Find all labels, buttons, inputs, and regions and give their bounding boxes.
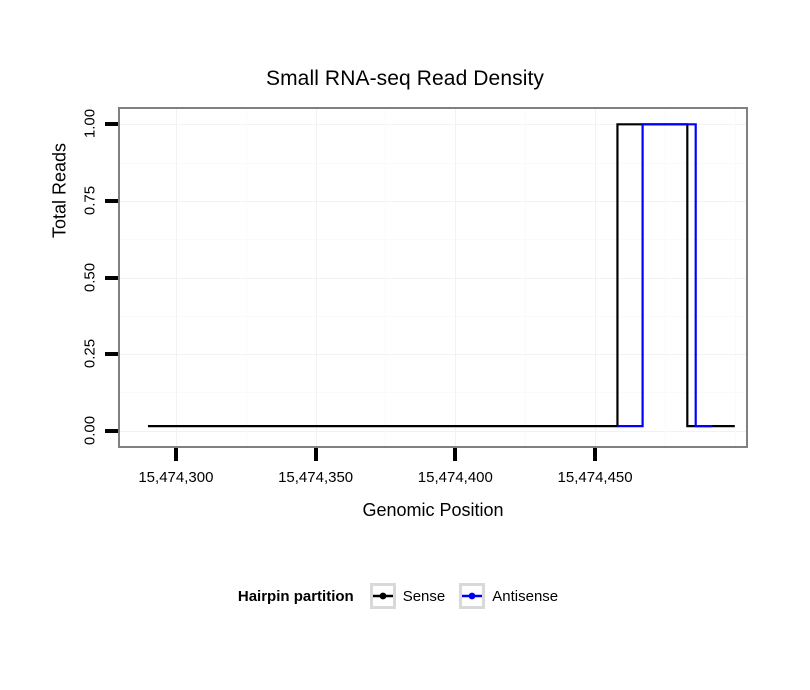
x-tick-label: 15,474,350 [256, 469, 376, 486]
legend-item-antisense[interactable]: Antisense [459, 583, 558, 609]
y-tick-mark [105, 429, 118, 433]
x-tick-label: 15,474,300 [116, 469, 236, 486]
x-tick-label: 15,474,400 [395, 469, 515, 486]
plot-panel [118, 107, 748, 448]
y-tick-label: 0.00 [82, 410, 99, 450]
legend-key-swatch [370, 583, 396, 609]
y-tick-label: 0.50 [82, 257, 99, 297]
y-tick-mark [105, 352, 118, 356]
legend-label: Antisense [492, 588, 558, 605]
chart-container: Small RNA-seq Read Density 0.000.250.500… [0, 0, 810, 690]
x-tick-mark [453, 448, 457, 461]
x-tick-mark [593, 448, 597, 461]
series-line-antisense [617, 124, 712, 426]
legend-key-swatch [459, 583, 485, 609]
legend: Hairpin partition SenseAntisense [0, 583, 810, 609]
series-layer [120, 109, 746, 446]
x-tick-mark [314, 448, 318, 461]
y-tick-label: 0.25 [82, 334, 99, 374]
x-axis-title: Genomic Position [118, 500, 748, 521]
legend-items: SenseAntisense [370, 583, 572, 609]
y-tick-label: 0.75 [82, 180, 99, 220]
y-tick-mark [105, 199, 118, 203]
x-tick-mark [174, 448, 178, 461]
y-axis-title: Total Reads [50, 91, 71, 291]
legend-title: Hairpin partition [238, 588, 354, 605]
x-tick-label: 15,474,450 [535, 469, 655, 486]
legend-item-sense[interactable]: Sense [370, 583, 446, 609]
plot-area [120, 109, 746, 446]
chart-title: Small RNA-seq Read Density [0, 67, 810, 91]
series-line-sense [148, 124, 735, 426]
legend-label: Sense [403, 588, 446, 605]
y-tick-mark [105, 122, 118, 126]
y-tick-mark [105, 276, 118, 280]
y-tick-label: 1.00 [82, 104, 99, 144]
